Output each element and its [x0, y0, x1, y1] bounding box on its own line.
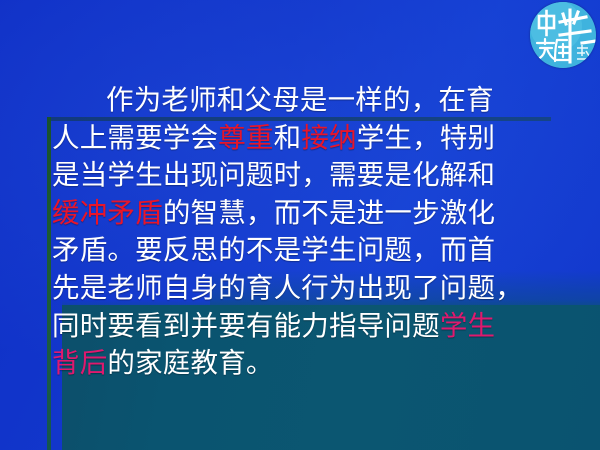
text-line: 是当学生出现问题时，需要是化解和 — [52, 157, 548, 195]
text-line: 作为老师和父母是一样的，在育 — [52, 82, 548, 120]
text-line: 缓冲矛盾的智慧，而不是进一步激化 — [52, 195, 548, 233]
highlighted-text: 尊重 — [218, 122, 273, 154]
text-run: 同时要看到并要有能力指导问题 — [52, 310, 440, 342]
text-run: 和 — [274, 122, 302, 154]
text-run: 作为老师和父母是一样的，在育 — [106, 84, 494, 116]
text-run: 人上需要学会 — [52, 122, 218, 154]
text-line: 先是老师自身的育人行为出现了问题， — [52, 270, 548, 308]
highlighted-text: 接纳 — [301, 122, 356, 154]
text-run: 矛盾。要反思的不是学生问题，而首 — [52, 234, 495, 266]
highlighted-text: 学生 — [440, 310, 495, 342]
text-run: 先是老师自身的育人行为出现了问题， — [52, 272, 523, 304]
text-run: 是当学生出现问题时，需要是化解和 — [52, 159, 495, 191]
highlighted-text: 缓冲矛盾 — [52, 197, 163, 229]
text-line: 矛盾。要反思的不是学生问题，而首 — [52, 232, 548, 270]
text-line: 人上需要学会尊重和接纳学生，特别 — [52, 120, 548, 158]
slide-canvas: 作为老师和父母是一样的，在育人上需要学会尊重和接纳学生，特别是当学生出现问题时，… — [0, 0, 600, 450]
brand-logo — [530, 2, 596, 68]
text-line: 背后的家庭教育。 — [52, 345, 548, 383]
text-line: 同时要看到并要有能力指导问题学生 — [52, 308, 548, 346]
text-run: 的家庭教育。 — [107, 347, 273, 379]
text-run: 的智慧，而不是进一步激化 — [163, 197, 495, 229]
left-accent-rule — [47, 117, 51, 450]
highlighted-text: 背后 — [52, 347, 107, 379]
slide-body-text: 作为老师和父母是一样的，在育人上需要学会尊重和接纳学生，特别是当学生出现问题时，… — [52, 82, 548, 383]
text-run: 学生，特别 — [357, 122, 496, 154]
